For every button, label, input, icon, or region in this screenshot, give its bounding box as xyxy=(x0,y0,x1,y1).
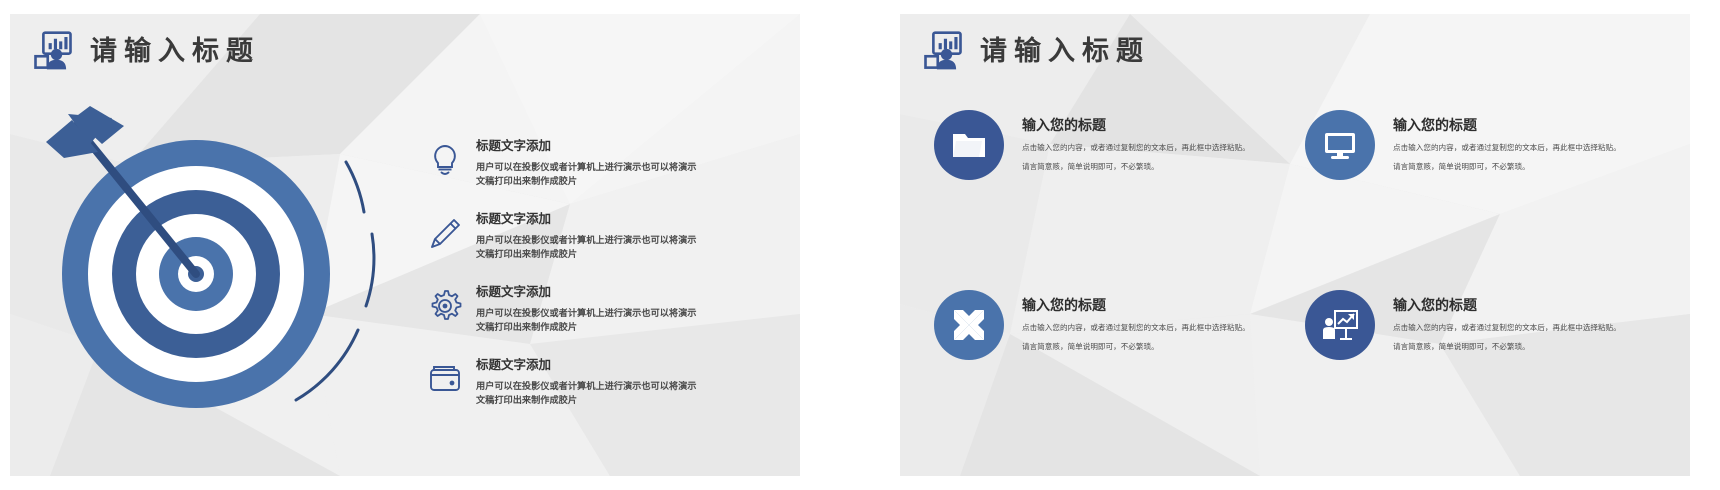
icon-circle xyxy=(1305,110,1375,180)
list-item-desc: 用户可以在投影仪或者计算机上进行演示也可以将演示文稿打印出来制作成胶片 xyxy=(476,379,704,408)
page-title: 请输入标题 xyxy=(90,38,260,65)
icon-circle xyxy=(1305,290,1375,360)
list-item[interactable]: 标题文字添加 用户可以在投影仪或者计算机上进行演示也可以将演示文稿打印出来制作成… xyxy=(428,212,758,261)
lightbulb-icon xyxy=(428,143,462,177)
list-item-title: 标题文字添加 xyxy=(476,358,758,374)
presentation-chart-icon xyxy=(1320,305,1360,345)
feature-cell[interactable]: 输入您的标题 点击输入您的内容，或者通过复制您的文本后，再此框中选择粘贴。 请言… xyxy=(1305,110,1658,180)
feature-line-2: 请言简意赅，简单说明即可，不必繁琐。 xyxy=(1022,342,1287,351)
list-item-desc: 用户可以在投影仪或者计算机上进行演示也可以将演示文稿打印出来制作成胶片 xyxy=(476,160,704,189)
page-title: 请输入标题 xyxy=(980,38,1150,65)
presenter-chart-icon xyxy=(32,30,74,72)
feature-title: 输入您的标题 xyxy=(1022,298,1287,312)
slide-left[interactable]: 请输入标题 xyxy=(10,14,800,476)
list-item-desc: 用户可以在投影仪或者计算机上进行演示也可以将演示文稿打印出来制作成胶片 xyxy=(476,306,704,335)
gear-icon xyxy=(428,289,462,323)
slide-pair-stage: 请输入标题 xyxy=(0,0,1720,490)
monitor-icon xyxy=(1320,125,1360,165)
expand-arrows-icon xyxy=(949,305,989,345)
feature-title: 输入您的标题 xyxy=(1393,118,1658,132)
feature-line-2: 请言简意赅，简单说明即可，不必繁琐。 xyxy=(1022,162,1287,171)
feature-line-2: 请言简意赅，简单说明即可，不必繁琐。 xyxy=(1393,342,1658,351)
folder-icon xyxy=(949,125,989,165)
feature-grid: 输入您的标题 点击输入您的内容，或者通过复制您的文本后，再此框中选择粘贴。 请言… xyxy=(934,110,1658,360)
feature-line-1: 点击输入您的内容，或者通过复制您的文本后，再此框中选择粘贴。 xyxy=(1022,323,1287,332)
feature-title: 输入您的标题 xyxy=(1022,118,1287,132)
slide-header-left: 请输入标题 xyxy=(32,30,260,72)
feature-cell[interactable]: 输入您的标题 点击输入您的内容，或者通过复制您的文本后，再此框中选择粘贴。 请言… xyxy=(934,110,1287,180)
icon-circle xyxy=(934,290,1004,360)
list-item[interactable]: 标题文字添加 用户可以在投影仪或者计算机上进行演示也可以将演示文稿打印出来制作成… xyxy=(428,285,758,334)
feature-cell[interactable]: 输入您的标题 点击输入您的内容，或者通过复制您的文本后，再此框中选择粘贴。 请言… xyxy=(1305,290,1658,360)
bullet-list-left: 标题文字添加 用户可以在投影仪或者计算机上进行演示也可以将演示文稿打印出来制作成… xyxy=(428,139,758,408)
feature-line-2: 请言简意赅，简单说明即可，不必繁琐。 xyxy=(1393,162,1658,171)
icon-circle xyxy=(934,110,1004,180)
feature-title: 输入您的标题 xyxy=(1393,298,1658,312)
feature-cell[interactable]: 输入您的标题 点击输入您的内容，或者通过复制您的文本后，再此框中选择粘贴。 请言… xyxy=(934,290,1287,360)
list-item-title: 标题文字添加 xyxy=(476,139,758,155)
feature-line-1: 点击输入您的内容，或者通过复制您的文本后，再此框中选择粘贴。 xyxy=(1393,323,1658,332)
slide-header-right: 请输入标题 xyxy=(922,30,1150,72)
feature-line-1: 点击输入您的内容，或者通过复制您的文本后，再此框中选择粘贴。 xyxy=(1022,143,1287,152)
list-item[interactable]: 标题文字添加 用户可以在投影仪或者计算机上进行演示也可以将演示文稿打印出来制作成… xyxy=(428,139,758,188)
wallet-icon xyxy=(428,362,462,396)
target-dartboard-arrow-icon xyxy=(28,92,408,422)
slide-right[interactable]: 请输入标题 输入您的标题 点击输入您的内容，或者通过复制您的文本后，再此框中选择… xyxy=(900,14,1690,476)
list-item-title: 标题文字添加 xyxy=(476,212,758,228)
list-item-title: 标题文字添加 xyxy=(476,285,758,301)
list-item-desc: 用户可以在投影仪或者计算机上进行演示也可以将演示文稿打印出来制作成胶片 xyxy=(476,233,704,262)
pencil-icon xyxy=(428,216,462,250)
list-item[interactable]: 标题文字添加 用户可以在投影仪或者计算机上进行演示也可以将演示文稿打印出来制作成… xyxy=(428,358,758,407)
presenter-chart-icon xyxy=(922,30,964,72)
feature-line-1: 点击输入您的内容，或者通过复制您的文本后，再此框中选择粘贴。 xyxy=(1393,143,1658,152)
